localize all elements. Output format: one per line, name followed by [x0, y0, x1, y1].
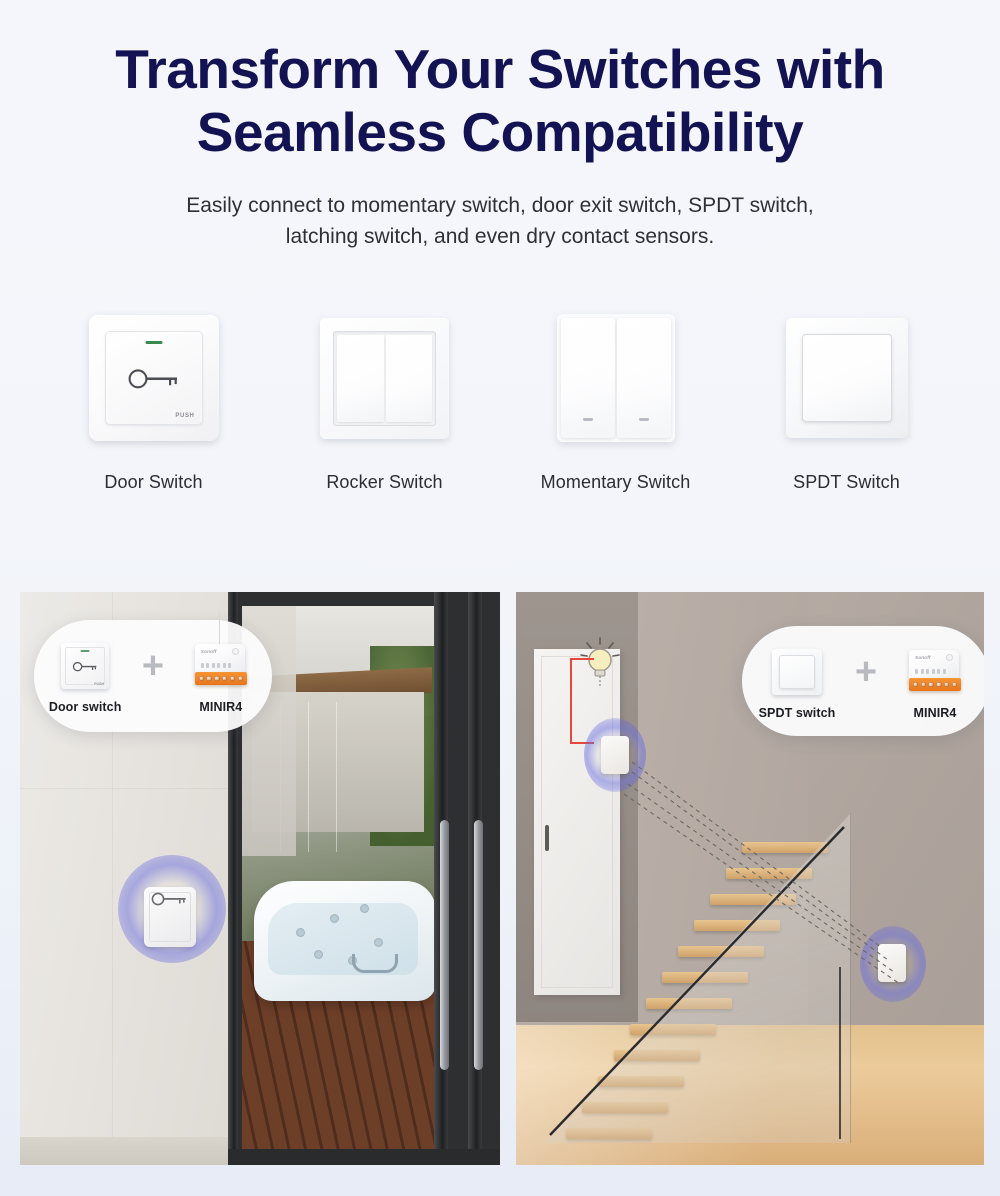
page-subtitle-line-1: Easily connect to momentary switch, door…: [0, 190, 1000, 221]
door-handle-right[interactable]: [474, 820, 483, 1070]
hero-section: Transform Your Switches with Seamless Co…: [0, 0, 1000, 252]
key-icon: [127, 368, 181, 390]
gallery-item-door-switch: PUSH Door Switch: [38, 298, 269, 493]
badge-module-label: MINIR4: [170, 700, 272, 714]
momentary-paddle-left: [561, 318, 615, 438]
minir4-module-icon: Sonoff: [170, 636, 272, 696]
gallery-label-door-switch: Door Switch: [38, 472, 269, 493]
rocker-paddle-left: [337, 335, 384, 422]
pairing-button-icon[interactable]: [946, 654, 953, 661]
led-indicator-icon: [81, 650, 90, 652]
door-handle-left[interactable]: [440, 820, 449, 1070]
push-marking-label: PUSH: [175, 413, 194, 419]
badge-switch-item: SPDT switch: [745, 642, 849, 720]
sonoff-brand-mark: Sonoff: [915, 655, 931, 660]
badge-module-item: Sonoff: [170, 636, 272, 714]
minir4-module-icon: Sonoff: [883, 642, 984, 702]
gallery-item-momentary-switch: Momentary Switch: [500, 298, 731, 493]
gallery-item-rocker-switch: Rocker Switch: [269, 298, 500, 493]
pairing-button-icon[interactable]: [232, 648, 239, 655]
gallery-label-rocker-switch: Rocker Switch: [269, 472, 500, 493]
rocker-switch-icon: [269, 298, 500, 458]
key-icon: [72, 661, 98, 672]
tub-faucet-icon: [352, 954, 398, 973]
terminal-block: [909, 678, 961, 691]
momentary-switch-icon: [500, 298, 731, 458]
page-title-line-2: Seamless Compatibility: [0, 101, 1000, 164]
spdt-paddle: [802, 334, 892, 422]
badge-switch-label: SPDT switch: [745, 706, 849, 720]
switch-gallery: PUSH Door Switch Rocker Switch: [0, 298, 1000, 493]
terminal-block: [195, 672, 247, 685]
pin-row: [201, 663, 232, 668]
badge-module-label: MINIR4: [883, 706, 984, 720]
antenna-icon: [219, 612, 220, 644]
page-title: Transform Your Switches with Seamless Co…: [0, 38, 1000, 164]
badge-switch-label: Door switch: [34, 700, 136, 714]
led-indicator-icon: [145, 341, 162, 344]
door-exit-switch-icon: PUSH: [34, 636, 136, 696]
gallery-label-momentary-switch: Momentary Switch: [500, 472, 731, 493]
plus-icon: +: [136, 636, 169, 696]
page-subtitle-line-2: latching switch, and even dry contact se…: [0, 221, 1000, 252]
rocker-paddle-right: [386, 335, 433, 422]
callout-badge-door-switch: PUSH Door switch + Sonoff: [34, 620, 272, 732]
page-subtitle: Easily connect to momentary switch, door…: [0, 190, 1000, 252]
gallery-label-spdt-switch: SPDT Switch: [731, 472, 962, 493]
floor-strip: [20, 1137, 236, 1165]
spdt-switch-icon: [731, 298, 962, 458]
momentary-paddle-right: [617, 318, 671, 438]
page-title-line-1: Transform Your Switches with: [0, 38, 1000, 101]
door-switch-scene: PUSH Door switch + Sonoff: [20, 592, 500, 1165]
sonoff-brand-mark: Sonoff: [201, 649, 217, 654]
plus-icon: +: [849, 642, 883, 702]
pin-row: [915, 669, 946, 674]
callout-badge-spdt-switch: SPDT switch + Sonoff: [742, 626, 984, 736]
spdt-switch-scene: SPDT switch + Sonoff: [516, 592, 984, 1165]
gallery-item-spdt-switch: SPDT Switch: [731, 298, 962, 493]
door-exit-switch-icon: PUSH: [38, 298, 269, 458]
badge-module-item: Sonoff: [883, 642, 984, 720]
key-icon: [150, 892, 190, 906]
scene-photo-row: PUSH Door switch + Sonoff: [0, 592, 1000, 1165]
product-feature-page: Transform Your Switches with Seamless Co…: [0, 0, 1000, 1196]
badge-switch-item: PUSH Door switch: [34, 636, 136, 714]
spdt-switch-icon: [745, 642, 849, 702]
push-marking-label: PUSH: [94, 682, 104, 686]
